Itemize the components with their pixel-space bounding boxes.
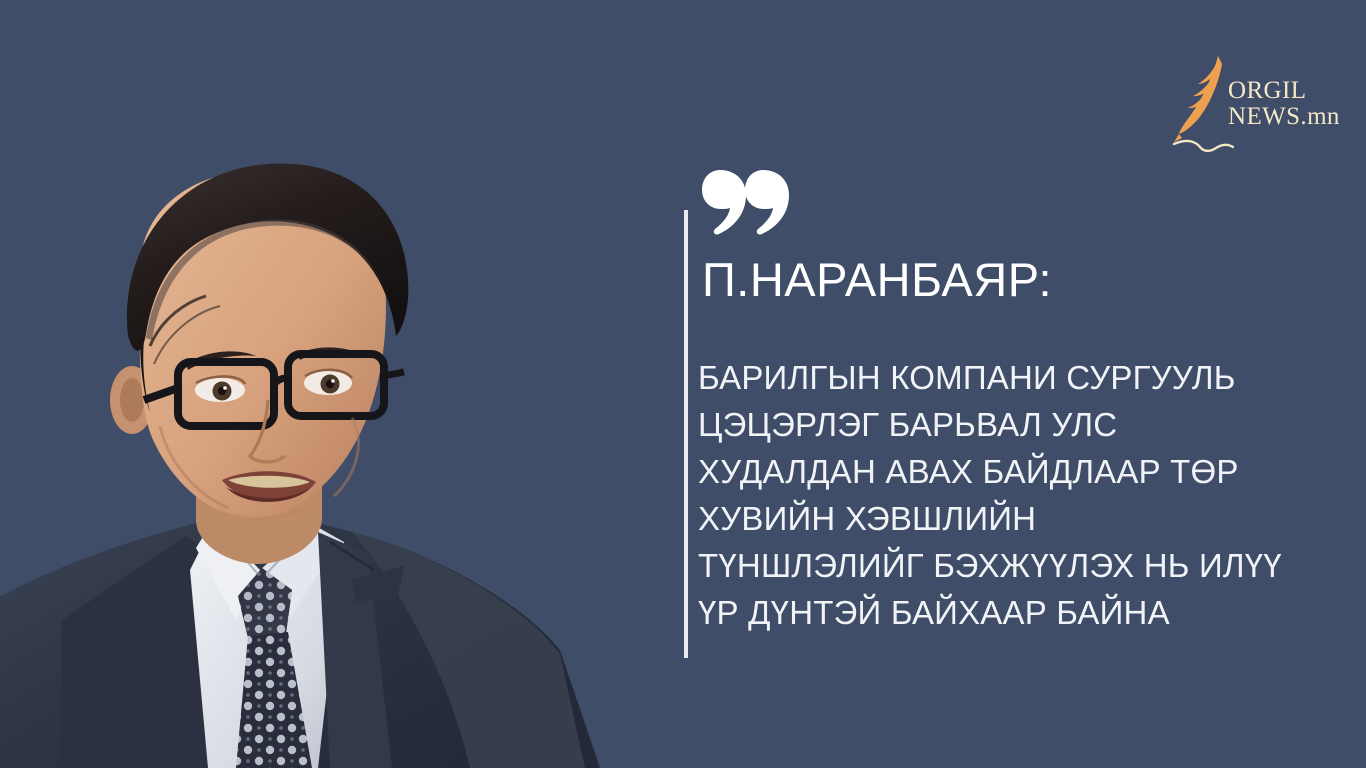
portrait-body: [0, 518, 600, 768]
vertical-rule: [684, 210, 688, 658]
quote-line: ХУДАЛДАН АВАХ БАЙДЛААР ТӨР: [698, 448, 1318, 495]
quote-text: БАРИЛГЫН КОМПАНИ СУРГУУЛЬ ЦЭЦЭРЛЭГ БАРЬВ…: [698, 354, 1318, 636]
portrait-head: [110, 164, 408, 520]
quotation-mark-icon: [702, 168, 792, 246]
quote-line: ТҮНШЛЭЛИЙГ БЭХЖҮҮЛЭХ НЬ ИЛҮҮ: [698, 542, 1318, 589]
quote-line: БАРИЛГЫН КОМПАНИ СУРГУУЛЬ: [698, 354, 1318, 401]
site-logo[interactable]: ORGIL NEWS.mn: [1172, 52, 1322, 152]
quote-line: ҮР ДҮНТЭЙ БАЙХААР БАЙНА: [698, 589, 1318, 636]
portrait-illustration: [0, 150, 680, 768]
logo-line-1: ORGIL: [1228, 78, 1340, 104]
portrait-photo: [0, 150, 680, 768]
logo-line-2: NEWS.mn: [1228, 104, 1340, 130]
speaker-name: П.НАРАНБАЯР:: [702, 256, 1052, 303]
logo-wordmark: ORGIL NEWS.mn: [1228, 78, 1340, 129]
quote-card: ORGIL NEWS.mn П.НАРАНБАЯР: БАРИЛГЫН КОМП…: [0, 0, 1366, 768]
quote-line: ХУВИЙН ХЭВШЛИЙН: [698, 495, 1318, 542]
quill-pen-icon: [1172, 52, 1234, 152]
quote-line: ЦЭЦЭРЛЭГ БАРЬВАЛ УЛС: [698, 401, 1318, 448]
